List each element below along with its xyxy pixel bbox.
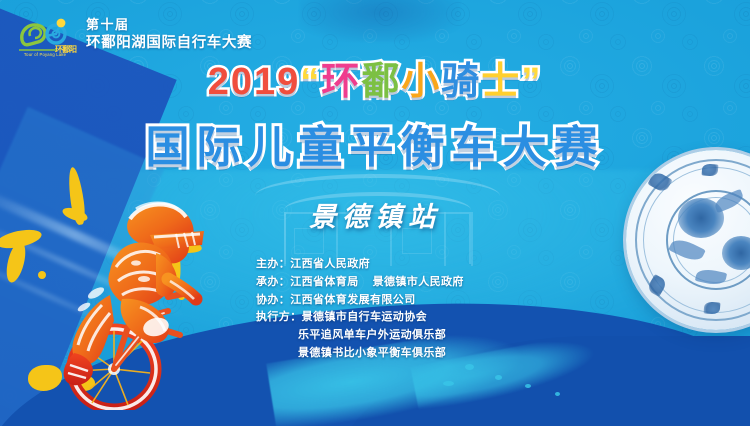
diagonal-light-streak [0,245,151,343]
brush-speck [525,384,531,388]
title-segment-6: 士 [481,62,521,102]
organizer-row: 景德镇书比小象平衡车俱乐部 [256,345,464,363]
title-line-2: 国际儿童平衡车大赛 [0,111,750,175]
organizer-row: 承办：江西省体育局景德镇市人民政府 [256,274,464,292]
title-segment-3: 鄱 [361,62,401,102]
organizer-role: 执行方： [256,311,302,323]
brush-speck [495,375,502,380]
event-edition: 第十届 [86,17,252,34]
yellow-paint-splatter [149,233,203,256]
organizer-entity: 江西省体育发展有限公司 [290,294,415,306]
organizer-row: 执行方：景德镇市自行车运动协会 [256,309,464,327]
organizer-role: 协办： [256,294,290,306]
brush-speck [465,364,474,370]
title-segment-2: 环 [321,62,361,102]
yellow-paint-splatter [163,230,183,287]
title-segment-0: 2019 [208,62,301,102]
top-porcelain-smudge [300,0,460,42]
blue-white-porcelain-plate [626,150,750,330]
organizer-row: 主办：江西省人民政府 [256,256,464,274]
yellow-paint-splatter [3,240,29,285]
station-label: 景德镇站 [0,195,750,234]
organizer-entity: 景德镇市人民政府 [373,276,464,288]
title-line-2-text: 国际儿童平衡车大赛 [146,111,605,175]
organizer-role: 主办： [256,258,290,270]
logo-cn-mark: 环鄱阳 [55,44,76,55]
organizer-row: 乐平追风单车户外运动俱乐部 [256,327,464,345]
organizer-entity: 乐平追风单车户外运动俱乐部 [298,329,446,341]
title-segment-7: ” [521,62,542,102]
title-segment-5: 骑 [441,62,481,102]
poster: Tour of Poyang Lake 环鄱阳 第十届 环鄱阳湖国际自行车大赛 … [0,0,750,426]
organizer-list: 主办：江西省人民政府承办：江西省体育局景德镇市人民政府协办：江西省体育发展有限公… [256,256,464,363]
title-segment-4: 小 [401,62,441,102]
yellow-paint-splatter [126,283,136,293]
brush-speck [443,381,454,386]
brush-speck [555,392,560,396]
header-title-block: 第十届 环鄱阳湖国际自行车大赛 [86,17,252,52]
yellow-paint-splatter [178,293,185,300]
title-line-1: 2019“环鄱小骑士” [0,62,750,102]
round-poyang-lake-cycling-logo: Tour of Poyang Lake 环鄱阳 [16,14,74,56]
yellow-paint-splatter [73,375,95,391]
yellow-paint-splatter [28,365,62,391]
yellow-paint-splatter [38,271,46,279]
header: Tour of Poyang Lake 环鄱阳 第十届 环鄱阳湖国际自行车大赛 [16,14,252,56]
organizer-role: 承办： [256,276,290,288]
organizer-entity: 江西省体育局 [290,276,358,288]
organizer-row: 协办：江西省体育发展有限公司 [256,292,464,310]
organizer-entity: 景德镇书比小象平衡车俱乐部 [298,347,446,359]
event-series-name: 环鄱阳湖国际自行车大赛 [86,34,252,53]
title-segment-1: “ [300,62,321,102]
organizer-entity: 景德镇市自行车运动协会 [302,311,427,323]
organizer-entity: 江西省人民政府 [290,258,370,270]
main-title: 2019“环鄱小骑士” 国际儿童平衡车大赛 [0,62,750,175]
